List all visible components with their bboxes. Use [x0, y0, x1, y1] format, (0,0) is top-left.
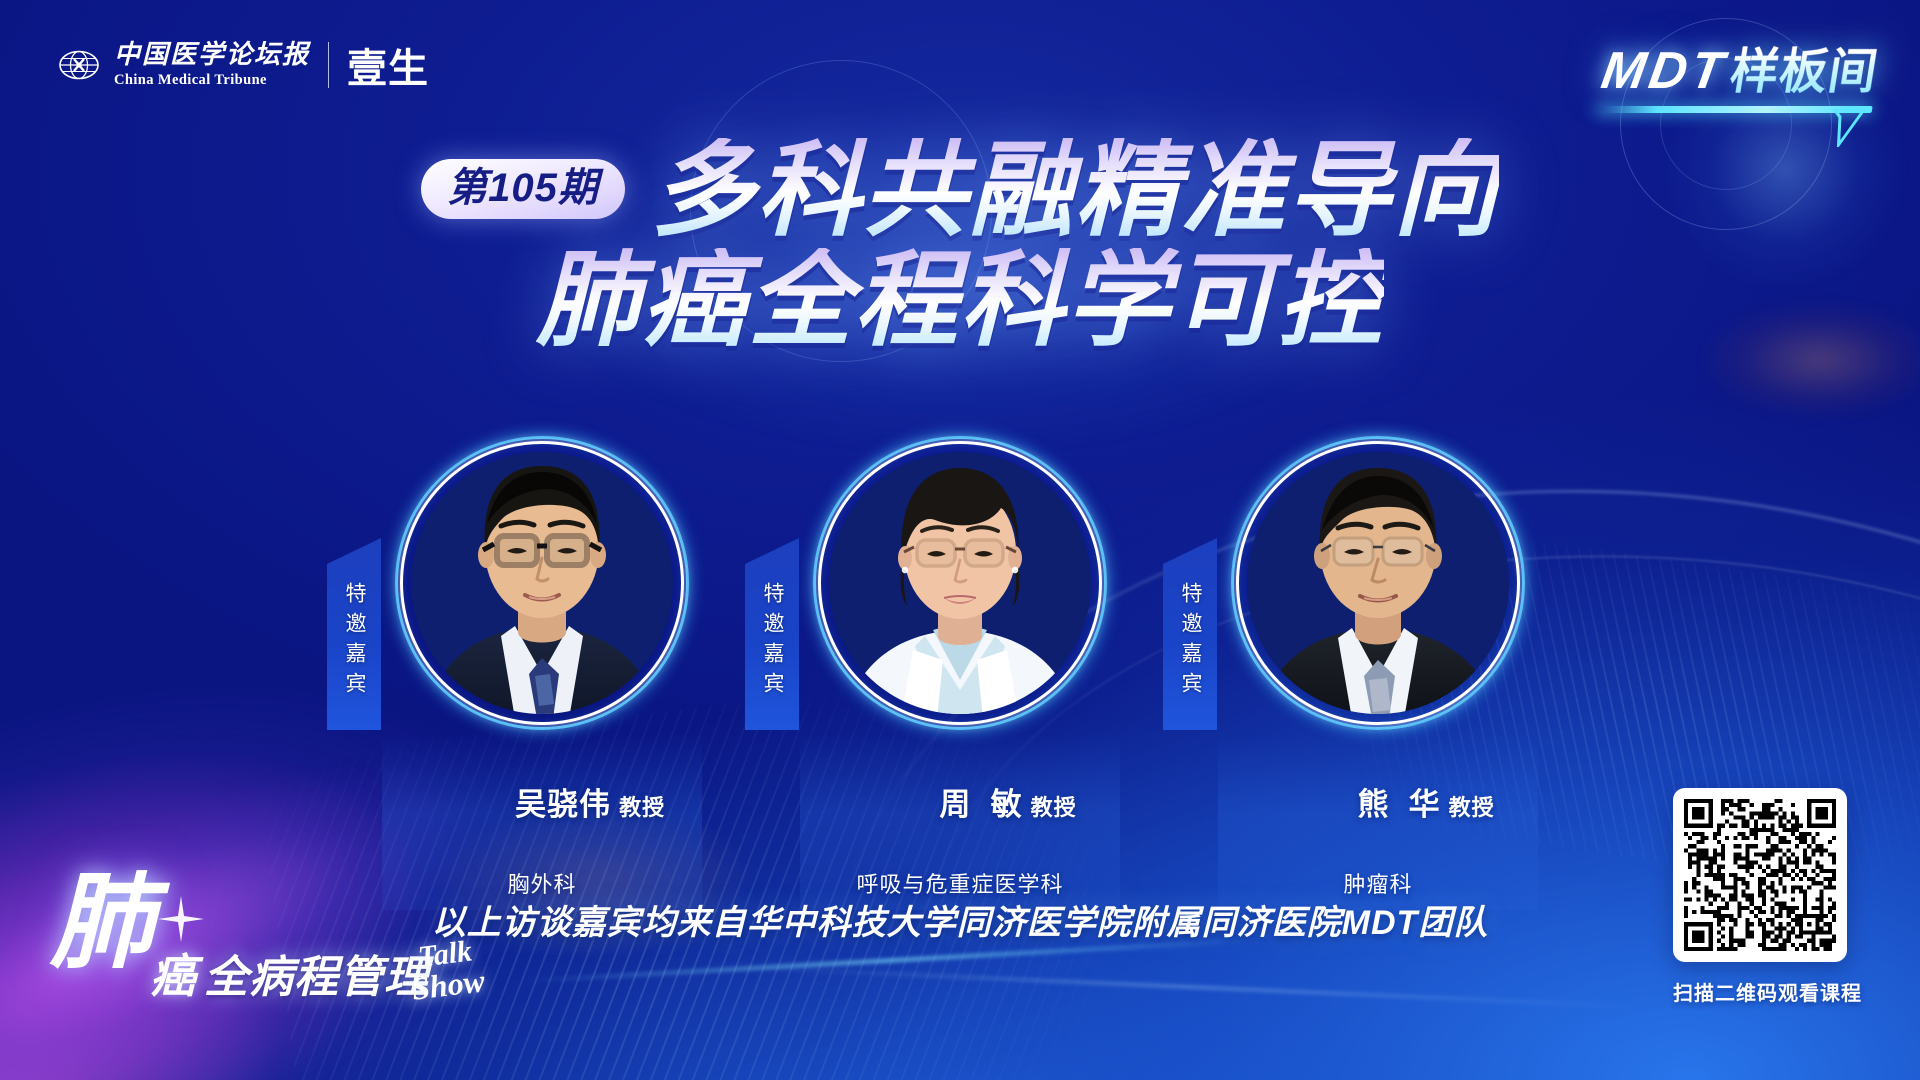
guest-ribbon-label: 特邀嘉宾 — [757, 582, 787, 702]
guest-title: 教授 — [1031, 795, 1077, 820]
brand-divider — [328, 42, 329, 88]
show-logo-rest: 全病程管理 — [204, 956, 429, 1000]
title-line-2: 肺癌全程科学可控 — [536, 248, 1384, 354]
poster-canvas: 中国医学论坛报 China Medical Tribune 壹生 MDT 样板间… — [0, 0, 1920, 1080]
title-line-1-row: 第105期 多科共融精准导向 — [0, 138, 1920, 244]
guest-name: 熊 华 — [1357, 787, 1440, 822]
brand-sub-name: 壹生 — [347, 36, 429, 94]
guest-ribbon: 特邀嘉宾 — [327, 538, 381, 730]
qr-block: 扫描二维码观看课程 — [1673, 788, 1862, 1006]
guest-portrait — [411, 452, 673, 714]
portrait-ring-inner — [1236, 441, 1520, 725]
title-block: 第105期 多科共融精准导向 肺癌全程科学可控 — [0, 138, 1920, 354]
guest-portrait — [1247, 452, 1509, 714]
guest-ribbon-label: 特邀嘉宾 — [1175, 582, 1205, 702]
guest-ribbon: 特邀嘉宾 — [1163, 538, 1217, 730]
show-logo: 肺 癌 全病程管理 Talk Show — [46, 876, 466, 1026]
globe-icon — [58, 44, 100, 86]
show-logo-char-1: 肺 — [50, 872, 154, 976]
guest-list: 特邀嘉宾 — [0, 452, 1920, 910]
title-line-1: 多科共融精准导向 — [651, 138, 1499, 244]
guest-card: 特邀嘉宾 — [795, 452, 1125, 910]
episode-badge: 第105期 — [421, 159, 625, 219]
guest-card: 特邀嘉宾 — [1213, 452, 1543, 910]
show-logo-show: Show — [410, 965, 486, 1004]
guest-name-block: 熊 华教授 肿瘤科 — [1218, 734, 1538, 910]
brand-name-en: China Medical Tribune — [114, 73, 310, 88]
guest-name-row: 熊 华教授 — [1218, 743, 1538, 860]
title-line-2-row: 肺癌全程科学可控 — [0, 248, 1920, 354]
show-logo-char-2: 癌 — [150, 954, 196, 1000]
guest-title: 教授 — [619, 795, 665, 820]
guest-ribbon: 特邀嘉宾 — [745, 538, 799, 730]
show-logo-talkshow: Talk Show — [417, 936, 487, 1003]
program-logo-row: MDT 样板间 — [1598, 32, 1885, 102]
brand-name-cn: 中国医学论坛报 — [114, 42, 310, 68]
guest-name-row: 吴骁伟教授 — [382, 743, 702, 860]
program-logo-cn: 样板间 — [1726, 32, 1884, 102]
sparkle-icon — [158, 896, 204, 942]
program-logo-en: MDT — [1598, 41, 1732, 101]
guest-title: 教授 — [1449, 795, 1495, 820]
guest-portrait — [829, 452, 1091, 714]
qr-code-icon[interactable] — [1673, 788, 1847, 962]
guest-ribbon-label: 特邀嘉宾 — [339, 582, 369, 702]
episode-badge-label: 第105期 — [447, 168, 599, 208]
guest-name: 吴骁伟 — [515, 787, 611, 822]
portrait-ring-outer — [813, 436, 1107, 730]
portrait-ring-inner — [400, 441, 684, 725]
qr-caption: 扫描二维码观看课程 — [1673, 977, 1862, 1006]
portrait-ring-outer — [1231, 436, 1525, 730]
guest-name-block: 周 敏教授 呼吸与危重症医学科 — [800, 734, 1120, 910]
footnote-text: 以上访谈嘉宾均来自华中科技大学同济医学院附属同济医院MDT团队 — [432, 904, 1489, 942]
portrait-ring-inner — [818, 441, 1102, 725]
program-logo: MDT 样板间 — [1596, 32, 1884, 113]
brand-text: 中国医学论坛报 China Medical Tribune — [114, 42, 310, 88]
guest-name: 周 敏 — [939, 787, 1022, 822]
brand-logo: 中国医学论坛报 China Medical Tribune 壹生 — [58, 36, 429, 94]
guest-name-row: 周 敏教授 — [800, 743, 1120, 860]
guest-card: 特邀嘉宾 — [377, 452, 707, 910]
portrait-ring-outer — [395, 436, 689, 730]
